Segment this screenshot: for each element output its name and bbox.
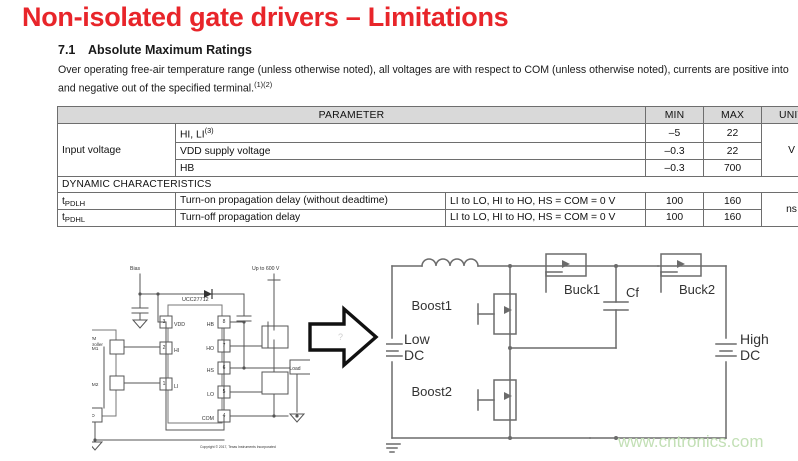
transition-arrow-icon: ? <box>306 304 380 370</box>
cell-max: 160 <box>704 209 762 226</box>
pin-label-lo: LO <box>207 392 214 398</box>
label-pwm-controller-1: PWM <box>92 336 96 341</box>
label-hv-rail: Up to 600 V <box>252 266 280 272</box>
multilevel-converter-figure: Low DC High DC Boost1 Boost2 Buck1 Buck2… <box>386 252 794 457</box>
row-group-label-input-voltage: Input voltage <box>58 124 176 177</box>
column-header-min: MIN <box>646 107 704 124</box>
param-footnote: (3) <box>205 126 214 135</box>
param-name: HI, LI(3) <box>176 124 646 143</box>
label-pwm1: PWM1 <box>92 346 99 352</box>
pin-label-com: COM <box>202 416 214 422</box>
label-high-dc-1: High <box>740 331 769 347</box>
table-row: tPDHL Turn-off propagation delay LI to L… <box>58 209 798 226</box>
table-section-row-dynamic: DYNAMIC CHARACTERISTICS <box>58 177 798 193</box>
pin-number-3: 3 <box>163 319 166 325</box>
label-pwm2: PWM2 <box>92 382 99 388</box>
cell-max: 22 <box>704 124 762 143</box>
pin-label-hb: HB <box>207 322 215 328</box>
intro-line-1: Over operating free-air temperature rang… <box>58 64 634 76</box>
label-low-dc-1: Low <box>404 331 431 347</box>
pin-label-hs: HS <box>207 368 215 374</box>
cell-condition: LI to LO, HI to HO, HS = COM = 0 V <box>446 209 646 226</box>
pin-label-hi: HI <box>174 348 179 354</box>
intro-paragraph: Over operating free-air temperature rang… <box>58 64 793 96</box>
column-header-max: MAX <box>704 107 762 124</box>
section-heading-text: Absolute Maximum Ratings <box>88 43 252 57</box>
label-buck2: Buck2 <box>679 282 715 297</box>
param-symbol: tPDLH <box>58 193 176 210</box>
pin-label-li: LI <box>174 384 178 390</box>
param-name: VDD supply voltage <box>176 143 646 160</box>
table-header-row: PARAMETER MIN MAX UNIT <box>58 107 798 124</box>
param-name: HB <box>176 160 646 177</box>
cell-unit: V <box>762 124 798 177</box>
table-row: Input voltage HI, LI(3) –5 22 V <box>58 124 798 143</box>
column-header-parameter: PARAMETER <box>58 107 646 124</box>
section-number: 7.1 <box>58 43 88 57</box>
pin-number-1: 1 <box>163 381 166 387</box>
label-bias: Bias <box>130 266 140 272</box>
cell-unit: ns <box>762 193 798 227</box>
label-load: Load <box>289 366 300 372</box>
pin-number-6: 6 <box>223 365 226 371</box>
cell-min: 100 <box>646 193 704 210</box>
cell-min: –5 <box>646 124 704 143</box>
slide-canvas: Non-isolated gate drivers – Limitations … <box>0 0 798 461</box>
pin-label-ho: HO <box>206 346 214 352</box>
pin-number-7: 7 <box>223 343 226 349</box>
pin-number-2: 2 <box>163 345 166 351</box>
pin-number-8: 8 <box>223 319 226 325</box>
label-low-dc-2: DC <box>404 347 424 363</box>
param-name: Turn-off propagation delay <box>176 209 446 226</box>
intro-footnote-marker: (1)(2) <box>254 80 272 89</box>
site-watermark: www.cntronics.com <box>618 432 763 452</box>
svg-text:?: ? <box>338 332 343 342</box>
gate-driver-schematic-figure: Bias Up to 600 V UCC27712 VDD HI LI HB H… <box>92 252 310 457</box>
cell-max: 700 <box>704 160 762 177</box>
label-copyright: Copyright © 2017, Texas Instruments Inco… <box>200 445 276 449</box>
label-device: UCC27712 <box>182 297 209 303</box>
label-boost2: Boost2 <box>412 384 452 399</box>
cell-min: –0.3 <box>646 143 704 160</box>
cell-condition: LI to LO, HI to HO, HS = COM = 0 V <box>446 193 646 210</box>
column-header-unit: UNIT <box>762 107 798 124</box>
pin-number-4: 4 <box>223 413 226 419</box>
section-row-label: DYNAMIC CHARACTERISTICS <box>58 177 798 193</box>
pin-number-5: 5 <box>223 389 226 395</box>
page-title: Non-isolated gate drivers – Limitations <box>22 2 508 33</box>
absolute-maximum-ratings-table: PARAMETER MIN MAX UNIT Input voltage HI,… <box>57 106 795 227</box>
pin-label-vdd: VDD <box>174 322 185 328</box>
label-high-dc-2: DC <box>740 347 760 363</box>
label-boost1: Boost1 <box>412 298 452 313</box>
cell-min: 100 <box>646 209 704 226</box>
cell-min: –0.3 <box>646 160 704 177</box>
label-cf: Cf <box>626 285 639 300</box>
param-name: Turn-on propagation delay (without deadt… <box>176 193 446 210</box>
section-heading: 7.1Absolute Maximum Ratings <box>58 43 252 57</box>
cell-max: 22 <box>704 143 762 160</box>
cell-max: 160 <box>704 193 762 210</box>
param-symbol: tPDHL <box>58 209 176 226</box>
table-row: tPDLH Turn-on propagation delay (without… <box>58 193 798 210</box>
label-buck1: Buck1 <box>564 282 600 297</box>
